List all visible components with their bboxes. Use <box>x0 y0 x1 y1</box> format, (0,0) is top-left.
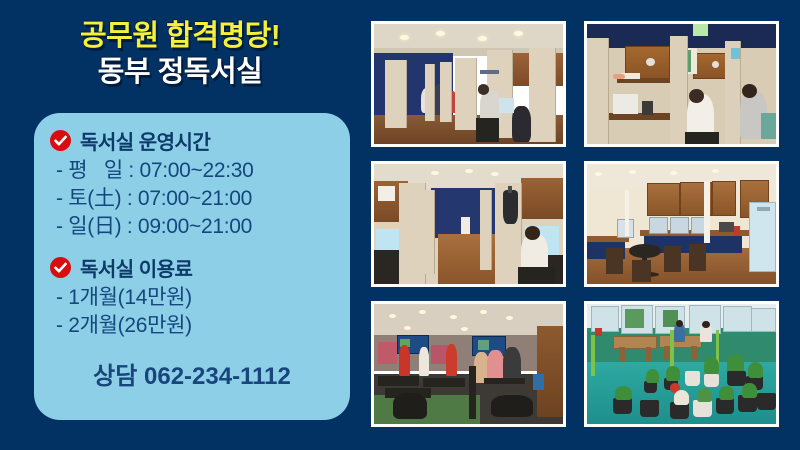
photo-study-carrel-hall[interactable] <box>371 21 566 147</box>
list-item: - 토(土) : 07:00~21:00 <box>56 185 350 213</box>
photo-corridor[interactable] <box>371 161 566 287</box>
photo-grid <box>371 21 779 427</box>
photo-carrel-cabinets[interactable] <box>584 21 779 147</box>
section-heading-usage-fee: 독서실 이용료 <box>34 253 350 282</box>
section-operating-hours: 독서실 운영시간 - 평 일 : 07:00~22:30 - 토(土) : 07… <box>34 126 350 241</box>
photo-rooftop-garden[interactable] <box>584 301 779 427</box>
photo-image <box>587 24 776 144</box>
list-item: - 일(日) : 09:00~21:00 <box>56 213 350 241</box>
poster-root: 공무원 합격명당! 동부 정독서실 독서실 운영시간 - 평 일 : 07:00… <box>0 0 800 450</box>
check-circle-icon <box>50 257 71 278</box>
section-title-usage-fee: 독서실 이용료 <box>80 253 192 282</box>
list-item: - 1개월(14만원) <box>56 284 350 312</box>
section-heading-operating-hours: 독서실 운영시간 <box>34 126 350 155</box>
operating-hours-list: - 평 일 : 07:00~22:30 - 토(土) : 07:00~21:00… <box>34 157 350 241</box>
photo-image <box>374 304 563 424</box>
left-info-panel: 공무원 합격명당! 동부 정독서실 독서실 운영시간 - 평 일 : 07:00… <box>0 0 360 450</box>
photo-image <box>374 164 563 284</box>
photo-image <box>587 304 776 424</box>
section-title-operating-hours: 독서실 운영시간 <box>80 126 210 155</box>
info-card: 독서실 운영시간 - 평 일 : 07:00~22:30 - 토(土) : 07… <box>34 113 350 420</box>
photo-image <box>587 164 776 284</box>
photo-lounge-cafe[interactable] <box>584 161 779 287</box>
headline-line-1: 공무원 합격명당! <box>0 22 360 51</box>
list-item: - 2개월(26만원) <box>56 312 350 340</box>
headline-line-2: 동부 정독서실 <box>0 58 360 87</box>
section-usage-fee: 독서실 이용료 - 1개월(14만원) - 2개월(26만원) <box>34 253 350 340</box>
photo-fitness-gym[interactable] <box>371 301 566 427</box>
headline-block: 공무원 합격명당! 동부 정독서실 <box>0 22 360 87</box>
list-item: - 평 일 : 07:00~22:30 <box>56 157 350 185</box>
usage-fee-list: - 1개월(14만원) - 2개월(26만원) <box>34 284 350 340</box>
photo-image <box>374 24 563 144</box>
contact-phone-number[interactable]: 상담 062-234-1112 <box>34 356 350 391</box>
check-circle-icon <box>50 130 71 151</box>
